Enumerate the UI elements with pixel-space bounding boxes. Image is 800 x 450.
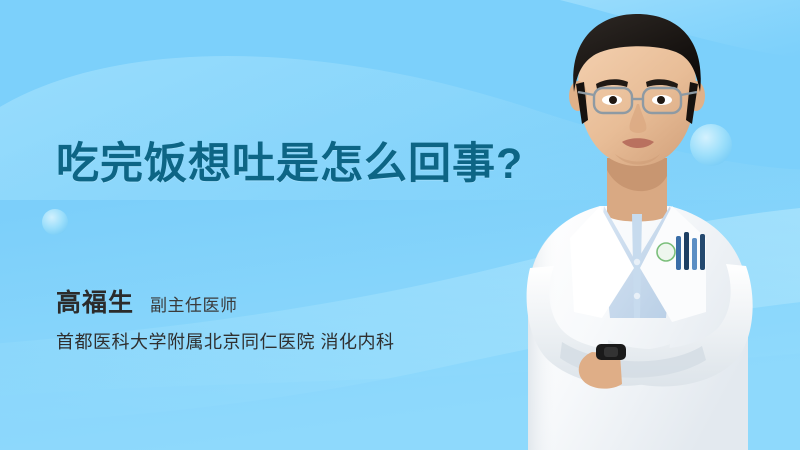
pupil-right: [657, 96, 665, 104]
hospital-badge: [657, 243, 675, 261]
shirt-button: [634, 293, 640, 299]
doctor-professional-title: 副主任医师: [150, 291, 238, 316]
doctor-identity: 高福生 副主任医师: [56, 283, 238, 319]
wristwatch-face: [604, 347, 618, 357]
cover-card: 吃完饭想吐是怎么回事? 高福生 副主任医师 首都医科大学附属北京同仁医院 消化内…: [0, 0, 800, 450]
shirt-button: [634, 259, 640, 265]
page-title: 吃完饭想吐是怎么回事?: [56, 142, 523, 187]
doctor-portrait: [470, 0, 800, 450]
doctor-name: 高福生: [56, 283, 134, 319]
pupil-left: [609, 96, 617, 104]
bubble-small-left: [42, 209, 68, 235]
doctor-affiliation: 首都医科大学附属北京同仁医院 消化内科: [56, 328, 395, 354]
